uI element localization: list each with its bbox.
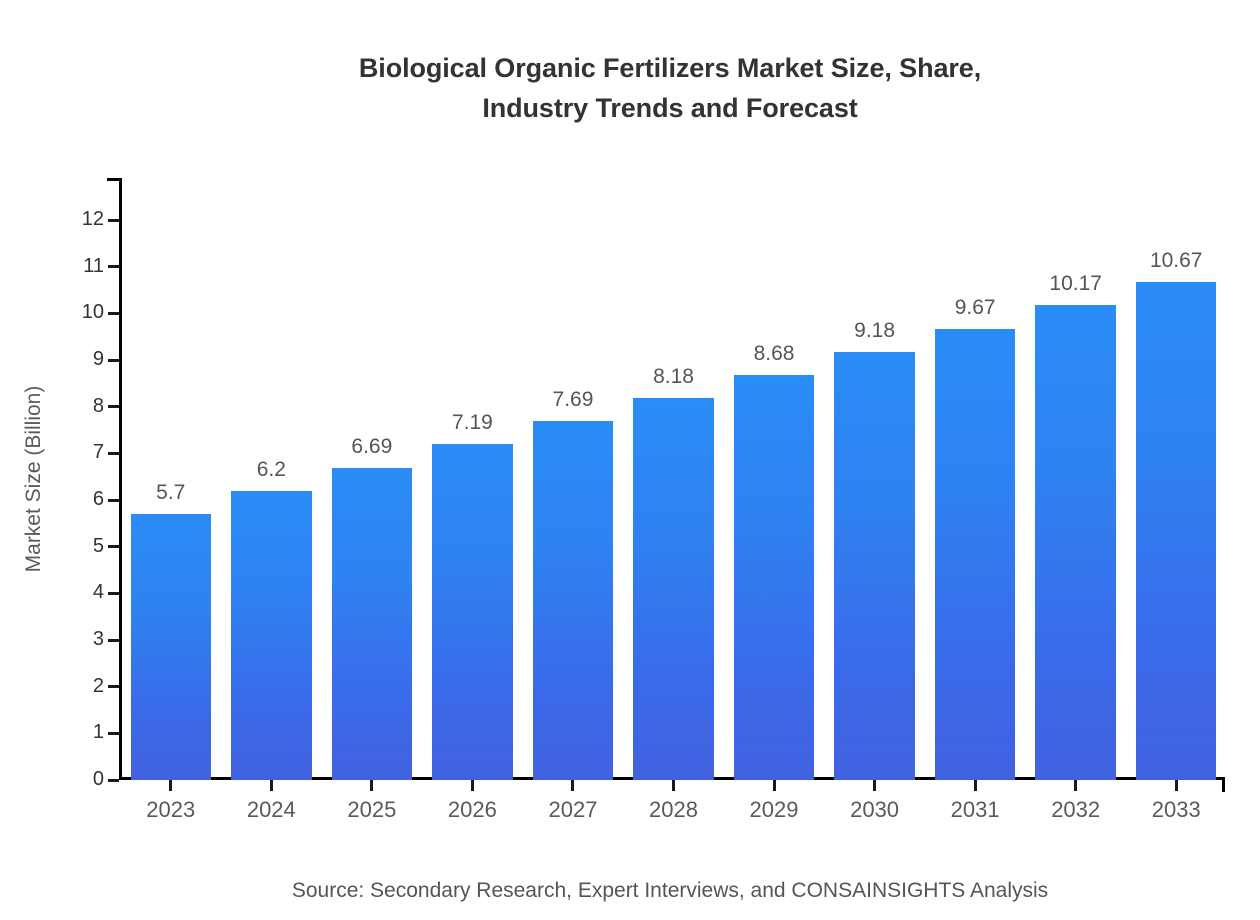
source-note: Source: Secondary Research, Expert Inter… <box>0 878 1260 904</box>
y-tick-mark <box>108 639 119 642</box>
y-tick-label: 10 <box>64 302 104 322</box>
x-tick-mark <box>169 780 172 791</box>
bar-value-label: 5.7 <box>101 482 241 504</box>
x-tick-mark <box>270 780 273 791</box>
y-tick-mark <box>108 685 119 688</box>
chart-title: Biological Organic Fertilizers Market Si… <box>0 48 1260 128</box>
bar[interactable] <box>231 491 311 780</box>
bar[interactable] <box>734 375 814 780</box>
bar-chart-figure: Biological Organic Fertilizers Market Si… <box>0 0 1260 920</box>
x-tick-mark <box>873 780 876 791</box>
y-tick-label: 8 <box>64 396 104 416</box>
y-tick-mark <box>108 592 119 595</box>
bar[interactable] <box>332 468 412 780</box>
bar-value-label: 8.18 <box>604 366 744 388</box>
bar[interactable] <box>1136 282 1216 780</box>
y-tick-label: 9 <box>64 349 104 369</box>
y-tick-mark <box>108 779 119 782</box>
y-tick-label: 1 <box>64 722 104 742</box>
y-axis-top-cap <box>107 178 122 181</box>
bar[interactable] <box>834 352 914 780</box>
x-axis-end-cap <box>1222 777 1225 792</box>
plot-area: 0123456789101112 20232024202520262027202… <box>119 178 1225 780</box>
bar-value-label: 6.69 <box>302 436 442 458</box>
bar[interactable] <box>432 444 512 780</box>
x-tick-mark <box>1074 780 1077 791</box>
bar[interactable] <box>1035 305 1115 780</box>
x-tick-label: 2033 <box>1116 798 1236 822</box>
y-tick-mark <box>108 312 119 315</box>
bar-value-label: 6.2 <box>201 459 341 481</box>
y-tick-label: 6 <box>64 489 104 509</box>
x-tick-mark <box>1175 780 1178 791</box>
y-axis-spine <box>119 178 122 780</box>
y-tick-mark <box>108 359 119 362</box>
bar-value-label: 9.18 <box>805 320 945 342</box>
bar[interactable] <box>935 329 1015 780</box>
y-tick-mark <box>108 405 119 408</box>
y-tick-mark <box>108 545 119 548</box>
y-tick-mark <box>108 452 119 455</box>
y-tick-mark <box>108 219 119 222</box>
x-tick-mark <box>471 780 474 791</box>
y-tick-label: 12 <box>64 209 104 229</box>
y-tick-label: 7 <box>64 442 104 462</box>
y-tick-label: 0 <box>64 769 104 789</box>
bar-value-label: 10.17 <box>1006 273 1146 295</box>
bar-value-label: 9.67 <box>905 297 1045 319</box>
bar[interactable] <box>533 421 613 780</box>
chart-title-line-1: Biological Organic Fertilizers Market Si… <box>80 48 1260 88</box>
x-tick-mark <box>571 780 574 791</box>
y-tick-label: 5 <box>64 536 104 556</box>
y-tick-label: 3 <box>64 629 104 649</box>
x-tick-mark <box>370 780 373 791</box>
y-tick-mark <box>108 265 119 268</box>
x-tick-mark <box>672 780 675 791</box>
y-tick-label: 4 <box>64 582 104 602</box>
bar-value-label: 10.67 <box>1106 250 1246 272</box>
bar-value-label: 7.69 <box>503 389 643 411</box>
bar[interactable] <box>633 398 713 780</box>
y-tick-label: 11 <box>64 256 104 276</box>
x-tick-mark <box>974 780 977 791</box>
y-tick-label: 2 <box>64 676 104 696</box>
bar[interactable] <box>131 514 211 780</box>
y-axis-label-text: Market Size (Billion) <box>17 178 51 780</box>
chart-title-line-2: Industry Trends and Forecast <box>80 88 1260 128</box>
bar-value-label: 8.68 <box>704 343 844 365</box>
bar-value-label: 7.19 <box>402 412 542 434</box>
y-tick-mark <box>108 732 119 735</box>
x-tick-mark <box>773 780 776 791</box>
